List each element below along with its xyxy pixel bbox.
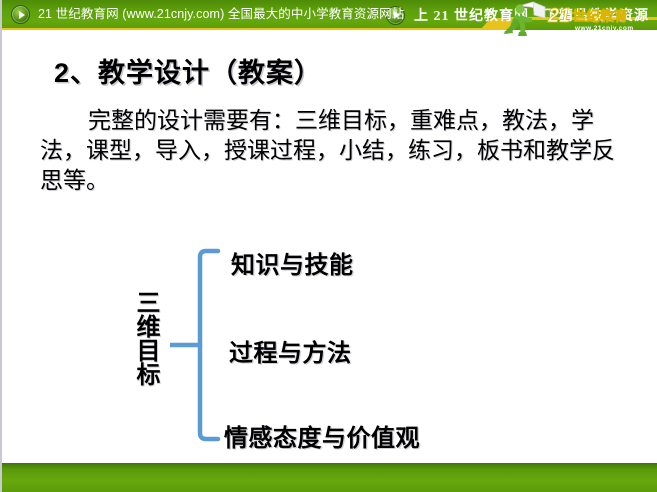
diagram-root-label: 三维目标	[130, 290, 160, 386]
page-title: 2、教学设计（教案）	[54, 51, 322, 90]
diagram-branch-label: 过程与方法	[229, 333, 352, 368]
logo-url: www.21cnjy.com	[574, 25, 634, 32]
diagram-branch-label: 知识与技能	[231, 245, 354, 280]
logo-wordmark: 世纪教育	[572, 8, 628, 24]
svg-text:21: 21	[547, 5, 570, 27]
header-gold-underline-left	[2, 28, 489, 30]
21cnjy-logo: 21 世纪教育 www.21cnjy.com	[493, 0, 653, 38]
header-title: 21 世纪教育网 (www.21cnjy.com) 全国最大的中小学教育资源网站	[38, 6, 404, 23]
body-paragraph: 完整的设计需要有：三维目标，重难点，教法，学法，课型，导入，授课过程，小结，练习…	[40, 106, 630, 196]
brace-connector-icon	[170, 240, 232, 455]
three-dimensional-goals-diagram: 三维目标 知识与技能 过程与方法 情感态度与价值观	[112, 240, 452, 460]
play-circle-icon	[11, 5, 30, 24]
diagram-branch-label: 情感态度与价值观	[224, 418, 420, 453]
presentation-slide: 21 世纪教育网 (www.21cnjy.com) 全国最大的中小学教育资源网站…	[0, 0, 657, 492]
header-branding: 21 世纪教育网 (www.21cnjy.com) 全国最大的中小学教育资源网站	[11, 5, 404, 24]
footer-bar	[2, 463, 657, 492]
